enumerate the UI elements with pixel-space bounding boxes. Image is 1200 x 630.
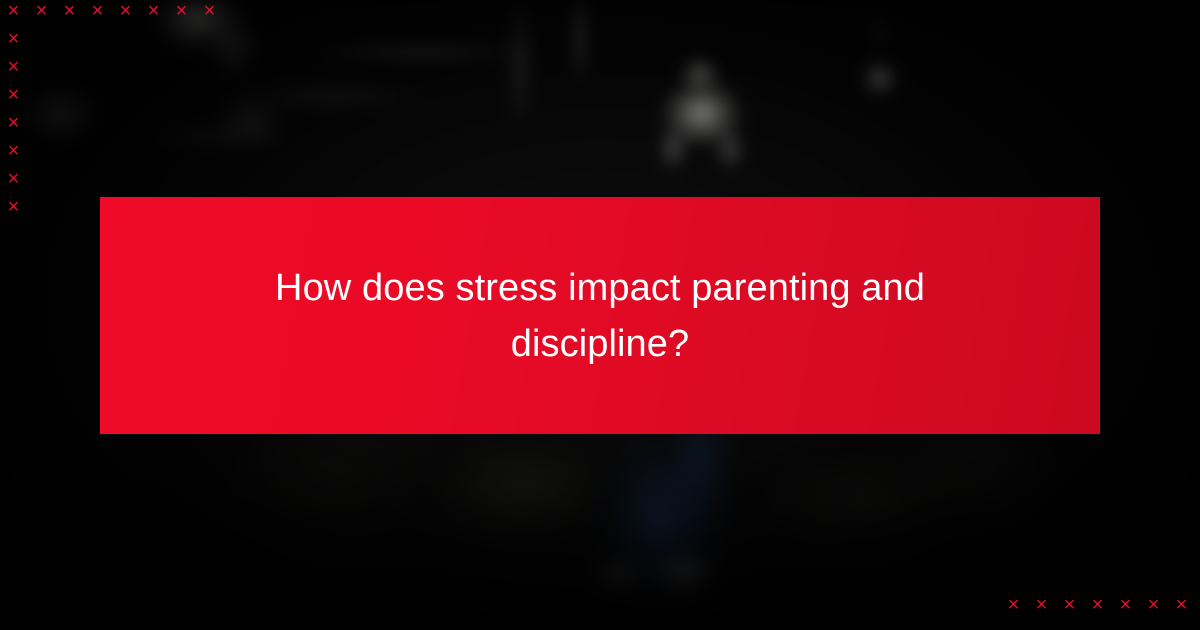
page-title: How does stress impact parenting and dis… xyxy=(255,260,945,372)
headline-banner: How does stress impact parenting and dis… xyxy=(100,197,1100,434)
social-share-card: How does stress impact parenting and dis… xyxy=(0,0,1200,630)
